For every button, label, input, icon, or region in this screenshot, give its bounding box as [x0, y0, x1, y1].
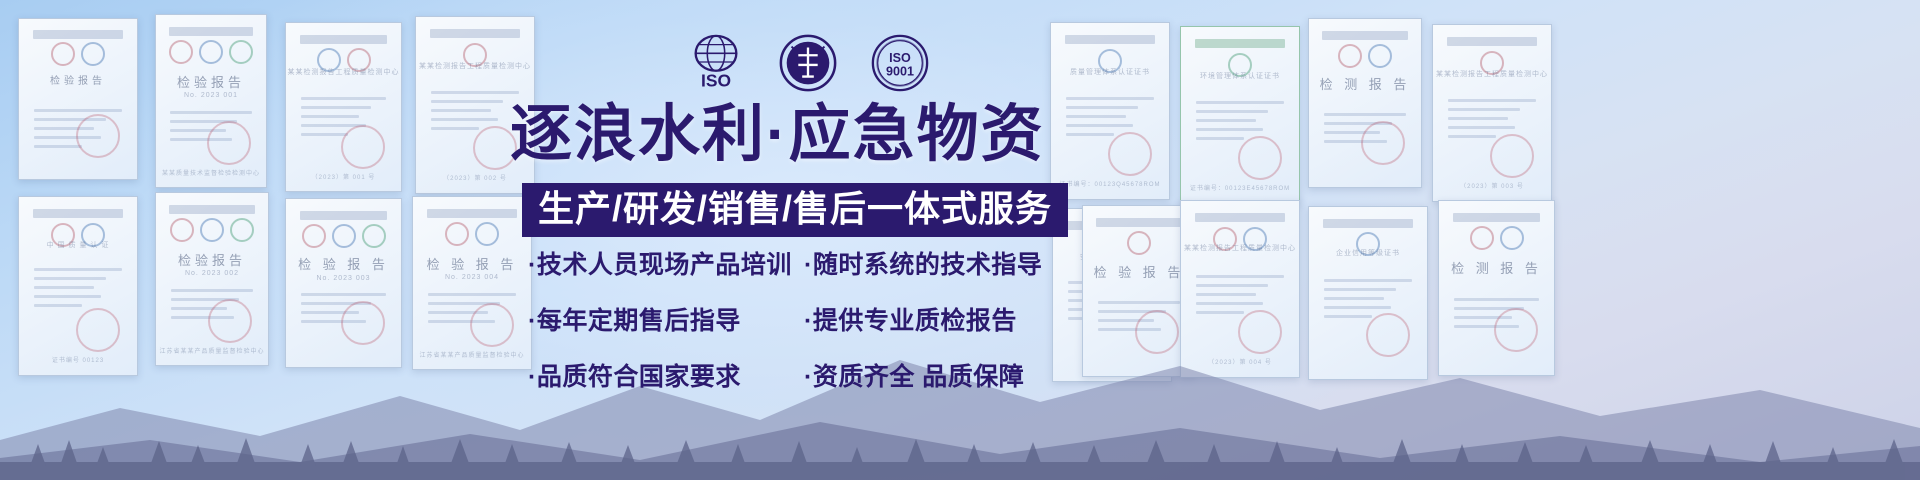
feature-item: ·资质齐全 品质保障: [804, 357, 1080, 393]
feature-item: ·提供专业质检报告: [804, 301, 1080, 337]
certificate-card: 检 测 报 告: [1308, 18, 1422, 188]
service-tagline-bar: 生产/研发/销售/售后一体式服务: [522, 183, 1068, 237]
quality-emblem-badge: [777, 32, 839, 94]
certificate-card: 中 国 质 量 认 证 证书编号 00123: [18, 196, 138, 376]
feature-item: ·每年定期售后指导: [528, 301, 804, 337]
feature-row: ·品质符合国家要求 ·资质齐全 品质保障: [528, 357, 1080, 393]
certificate-card: 检验报告No. 2023 002 江苏省某某产品质量监督检验中心: [155, 192, 269, 366]
iso-badge: ISO: [685, 32, 747, 94]
iso-9001-badge-label-top: ISO: [889, 51, 911, 65]
iso-9001-badge: ISO 9001: [869, 32, 931, 94]
feature-item: ·技术人员现场产品培训: [528, 245, 804, 281]
feature-list: ·技术人员现场产品培训 ·随时系统的技术指导 ·每年定期售后指导 ·提供专业质检…: [528, 245, 1080, 413]
certificate-card: 企业信用等级证书: [1308, 206, 1428, 380]
certificate-card: 某某检测报告工程质量检测中心 （2023）第 003 号: [1432, 24, 1552, 202]
certificate-card: 检 测 报 告: [1438, 200, 1555, 376]
iso-9001-badge-label-bottom: 9001: [886, 65, 914, 79]
certificate-card: 检 验 报 告No. 2023 003: [285, 198, 402, 368]
page-title: 逐浪水利·应急物资: [510, 104, 1080, 166]
certificate-card: 检验报告No. 2023 001 某某质量技术监督检验检测中心: [155, 14, 267, 188]
banner-content: ISO ISO 9001: [500, 0, 1080, 480]
promo-banner: 检验报告 检验报告No. 2023 001 某某质量技术监督检验检测中心 某某检…: [0, 0, 1920, 480]
iso-badge-label: ISO: [701, 70, 731, 90]
feature-item: ·品质符合国家要求: [528, 357, 804, 393]
certification-badges: ISO ISO 9001: [685, 32, 931, 94]
certificate-card: 检 验 报 告: [1082, 205, 1196, 377]
certificate-card: 环境管理体系认证证书 证书编号：00123E45678ROM: [1180, 26, 1300, 204]
feature-row: ·每年定期售后指导 ·提供专业质检报告: [528, 301, 1080, 337]
certificate-card: 某某检测报告工程质量检测中心 （2023）第 004 号: [1180, 200, 1300, 378]
feature-item: ·随时系统的技术指导: [804, 245, 1080, 281]
certificate-card: 检验报告: [18, 18, 138, 180]
feature-row: ·技术人员现场产品培训 ·随时系统的技术指导: [528, 245, 1080, 281]
certificate-card: 某某检测报告工程质量检测中心 （2023）第 001 号: [285, 22, 402, 192]
